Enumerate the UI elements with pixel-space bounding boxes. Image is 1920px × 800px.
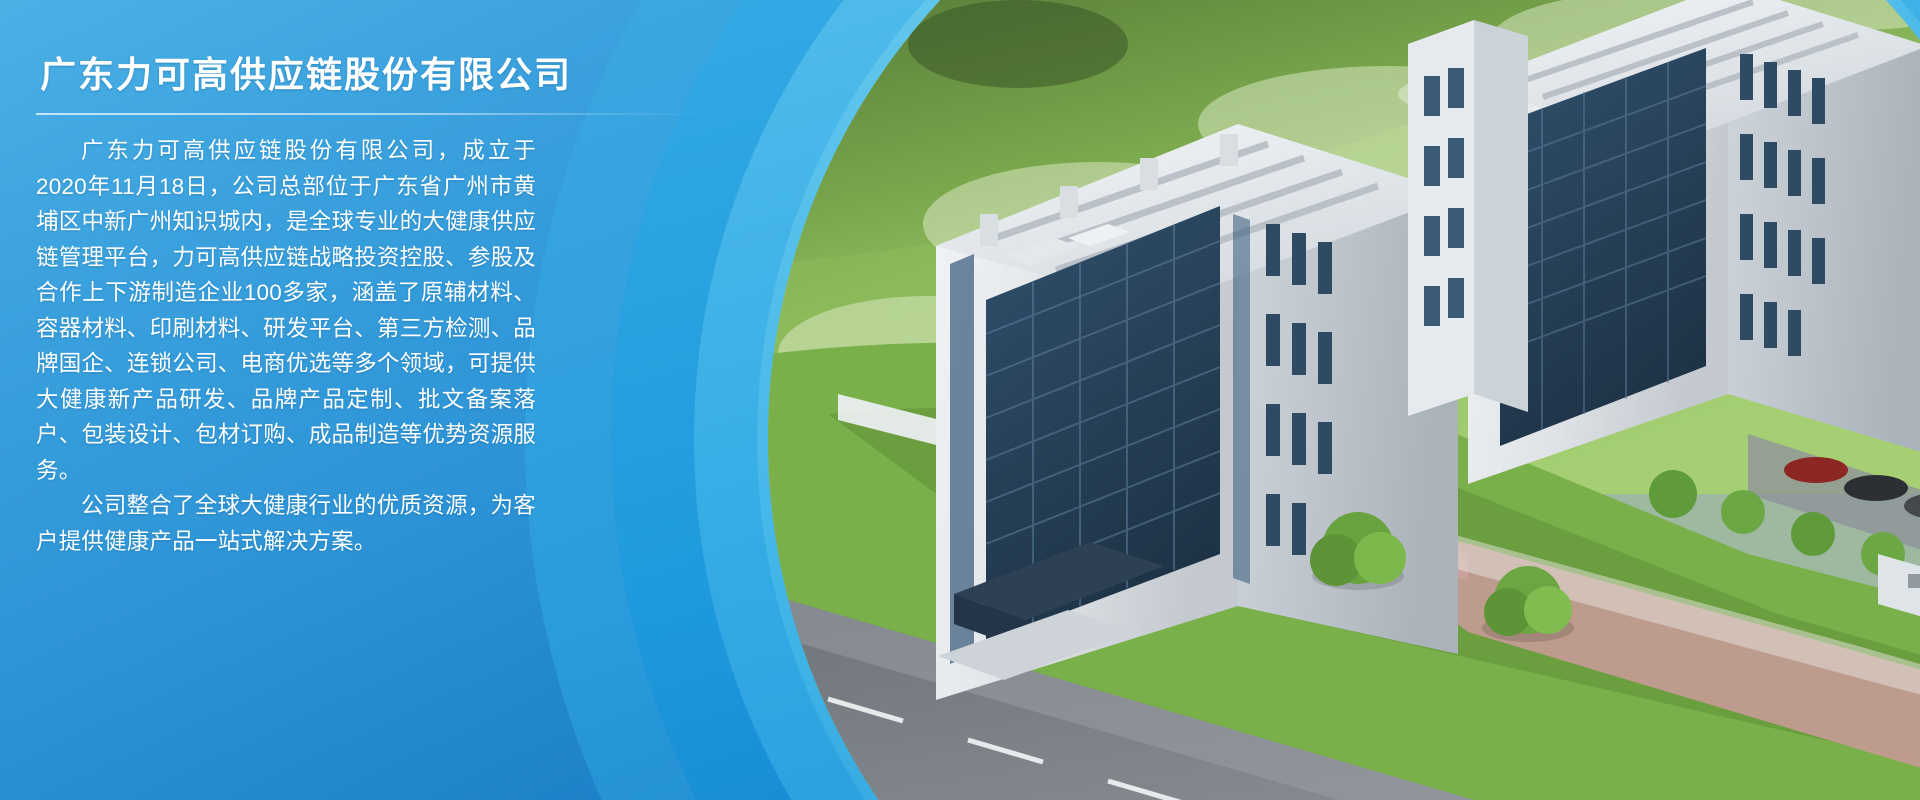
hero-banner: 广东力可高供应链股份有限公司 广东力可高供应链股份有限公司，成立于2020年11…	[0, 0, 1920, 800]
intro-paragraph-2: 公司整合了全球大健康行业的优质资源，为客户提供健康产品一站式解决方案。	[36, 488, 536, 559]
headquarters-photo	[768, 0, 1920, 800]
headquarters-photo-illustration	[768, 0, 1920, 800]
title-divider	[36, 113, 708, 115]
intro-panel: 广东力可高供应链股份有限公司 广东力可高供应链股份有限公司，成立于2020年11…	[0, 0, 700, 800]
intro-text: 广东力可高供应链股份有限公司，成立于2020年11月18日，公司总部位于广东省广…	[36, 133, 536, 559]
intro-paragraph-1: 广东力可高供应链股份有限公司，成立于2020年11月18日，公司总部位于广东省广…	[36, 133, 536, 488]
page-title: 广东力可高供应链股份有限公司	[36, 52, 676, 97]
